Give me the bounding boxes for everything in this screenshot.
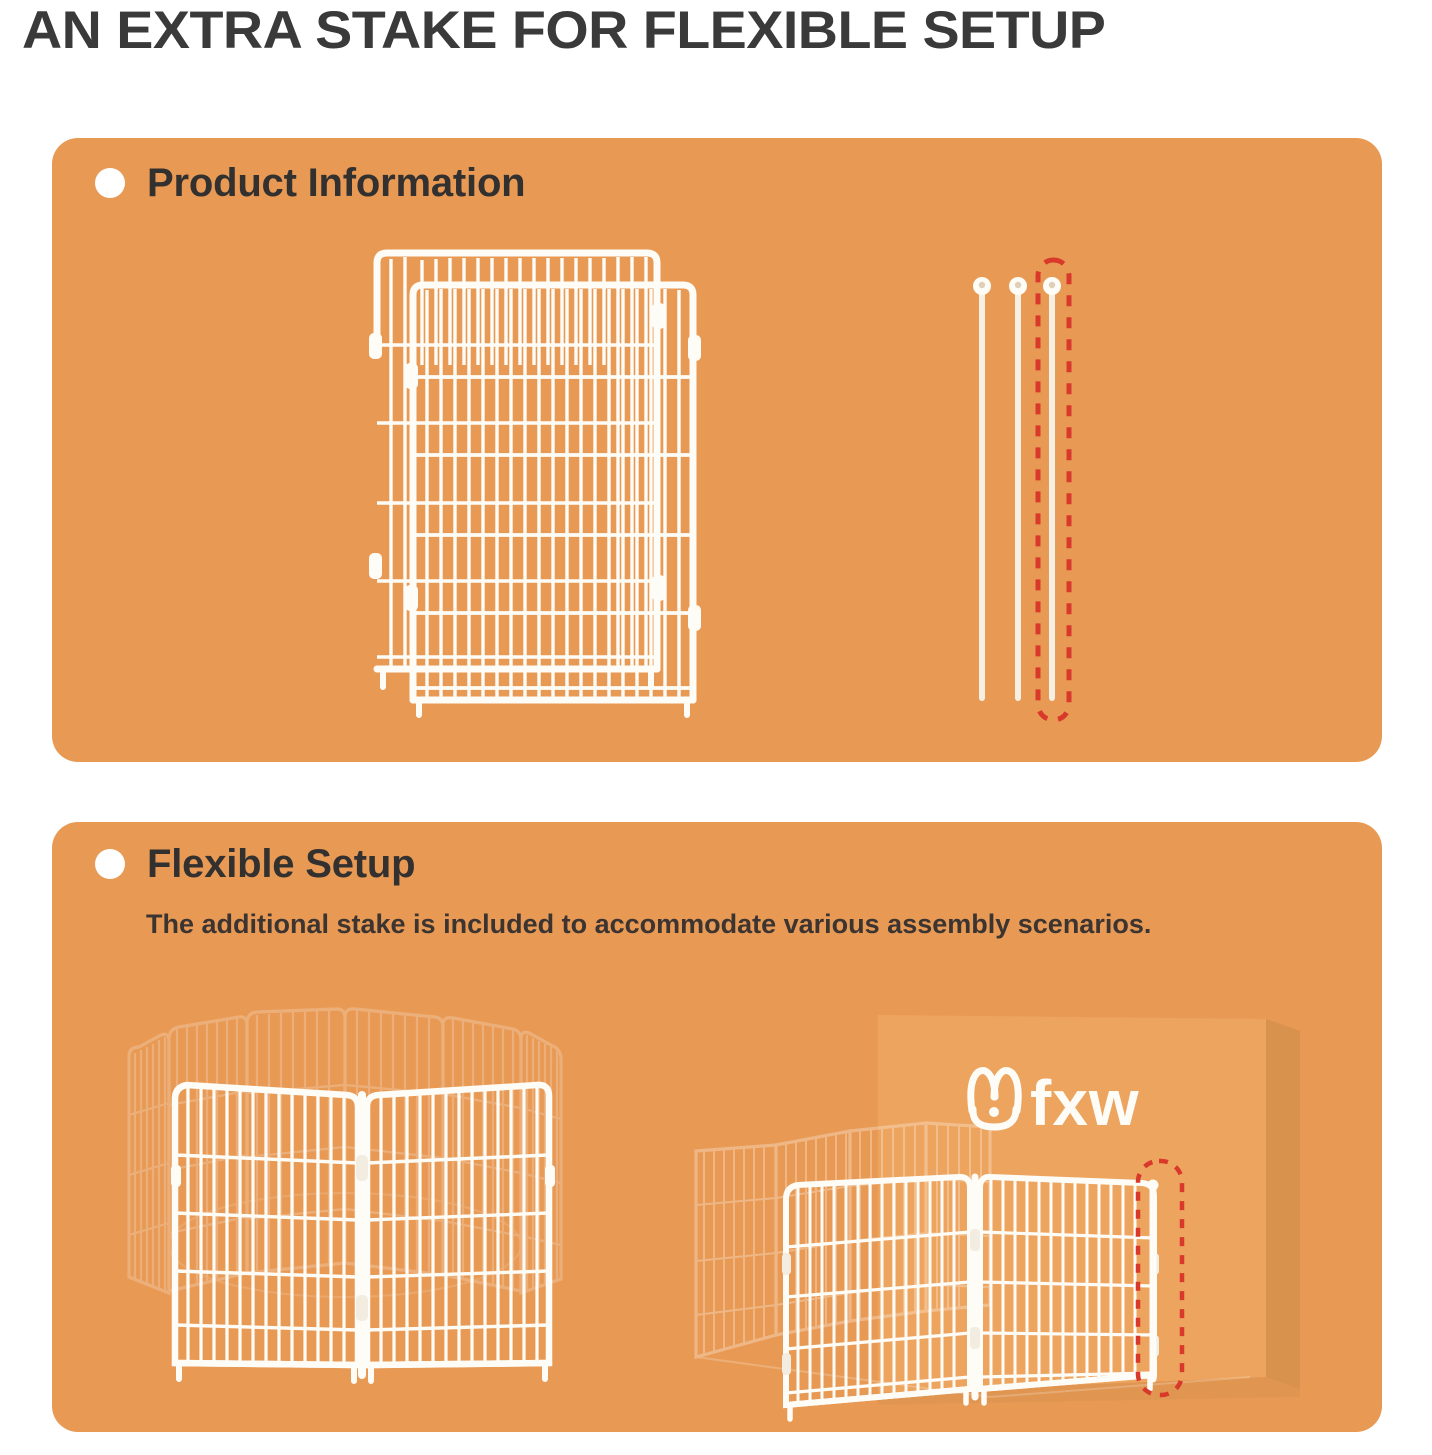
infographic-page: AN EXTRA STAKE FOR FLEXIBLE SETUP Produc… [0, 0, 1432, 1455]
card-product-title: Product Information [147, 161, 525, 205]
wire-panels-pair-illustration [350, 245, 730, 715]
playpen-front-left-panel [171, 1085, 358, 1381]
panel-connector-clip [369, 553, 382, 579]
panel-connector-clip [652, 303, 665, 329]
octagon-playpen-illustration [105, 995, 605, 1425]
stake-3-highlighted [1043, 277, 1061, 698]
panel-connector-clip [369, 333, 382, 359]
brand-wordmark: fxw [1030, 1067, 1140, 1139]
stake-1 [973, 277, 991, 698]
card-flexible-title: Flexible Setup [147, 842, 415, 886]
panel-connector-clip [405, 363, 418, 389]
dog-nose-icon [989, 1107, 999, 1117]
wall-mounted-pen-illustration: fxw [690, 1005, 1330, 1425]
ground-stakes-illustration [940, 250, 1120, 750]
page-title: AN EXTRA STAKE FOR FLEXIBLE SETUP [22, 2, 1432, 60]
panel-connector-clip [688, 335, 701, 361]
card-flexible-subtitle: The additional stake is included to acco… [146, 908, 1151, 940]
bullet-dot-icon [95, 849, 125, 879]
panel-connector-clip [405, 585, 418, 611]
card-product-header: Product Information [95, 161, 525, 205]
bullet-dot-icon [95, 168, 125, 198]
panel-connector-clip [652, 575, 665, 601]
stake-2 [1009, 277, 1027, 698]
panel-connector-clip [688, 605, 701, 631]
pen-center-hinge [970, 1177, 980, 1397]
pen-front-left-panel [782, 1177, 970, 1419]
card-flexible-header: Flexible Setup [95, 842, 415, 886]
